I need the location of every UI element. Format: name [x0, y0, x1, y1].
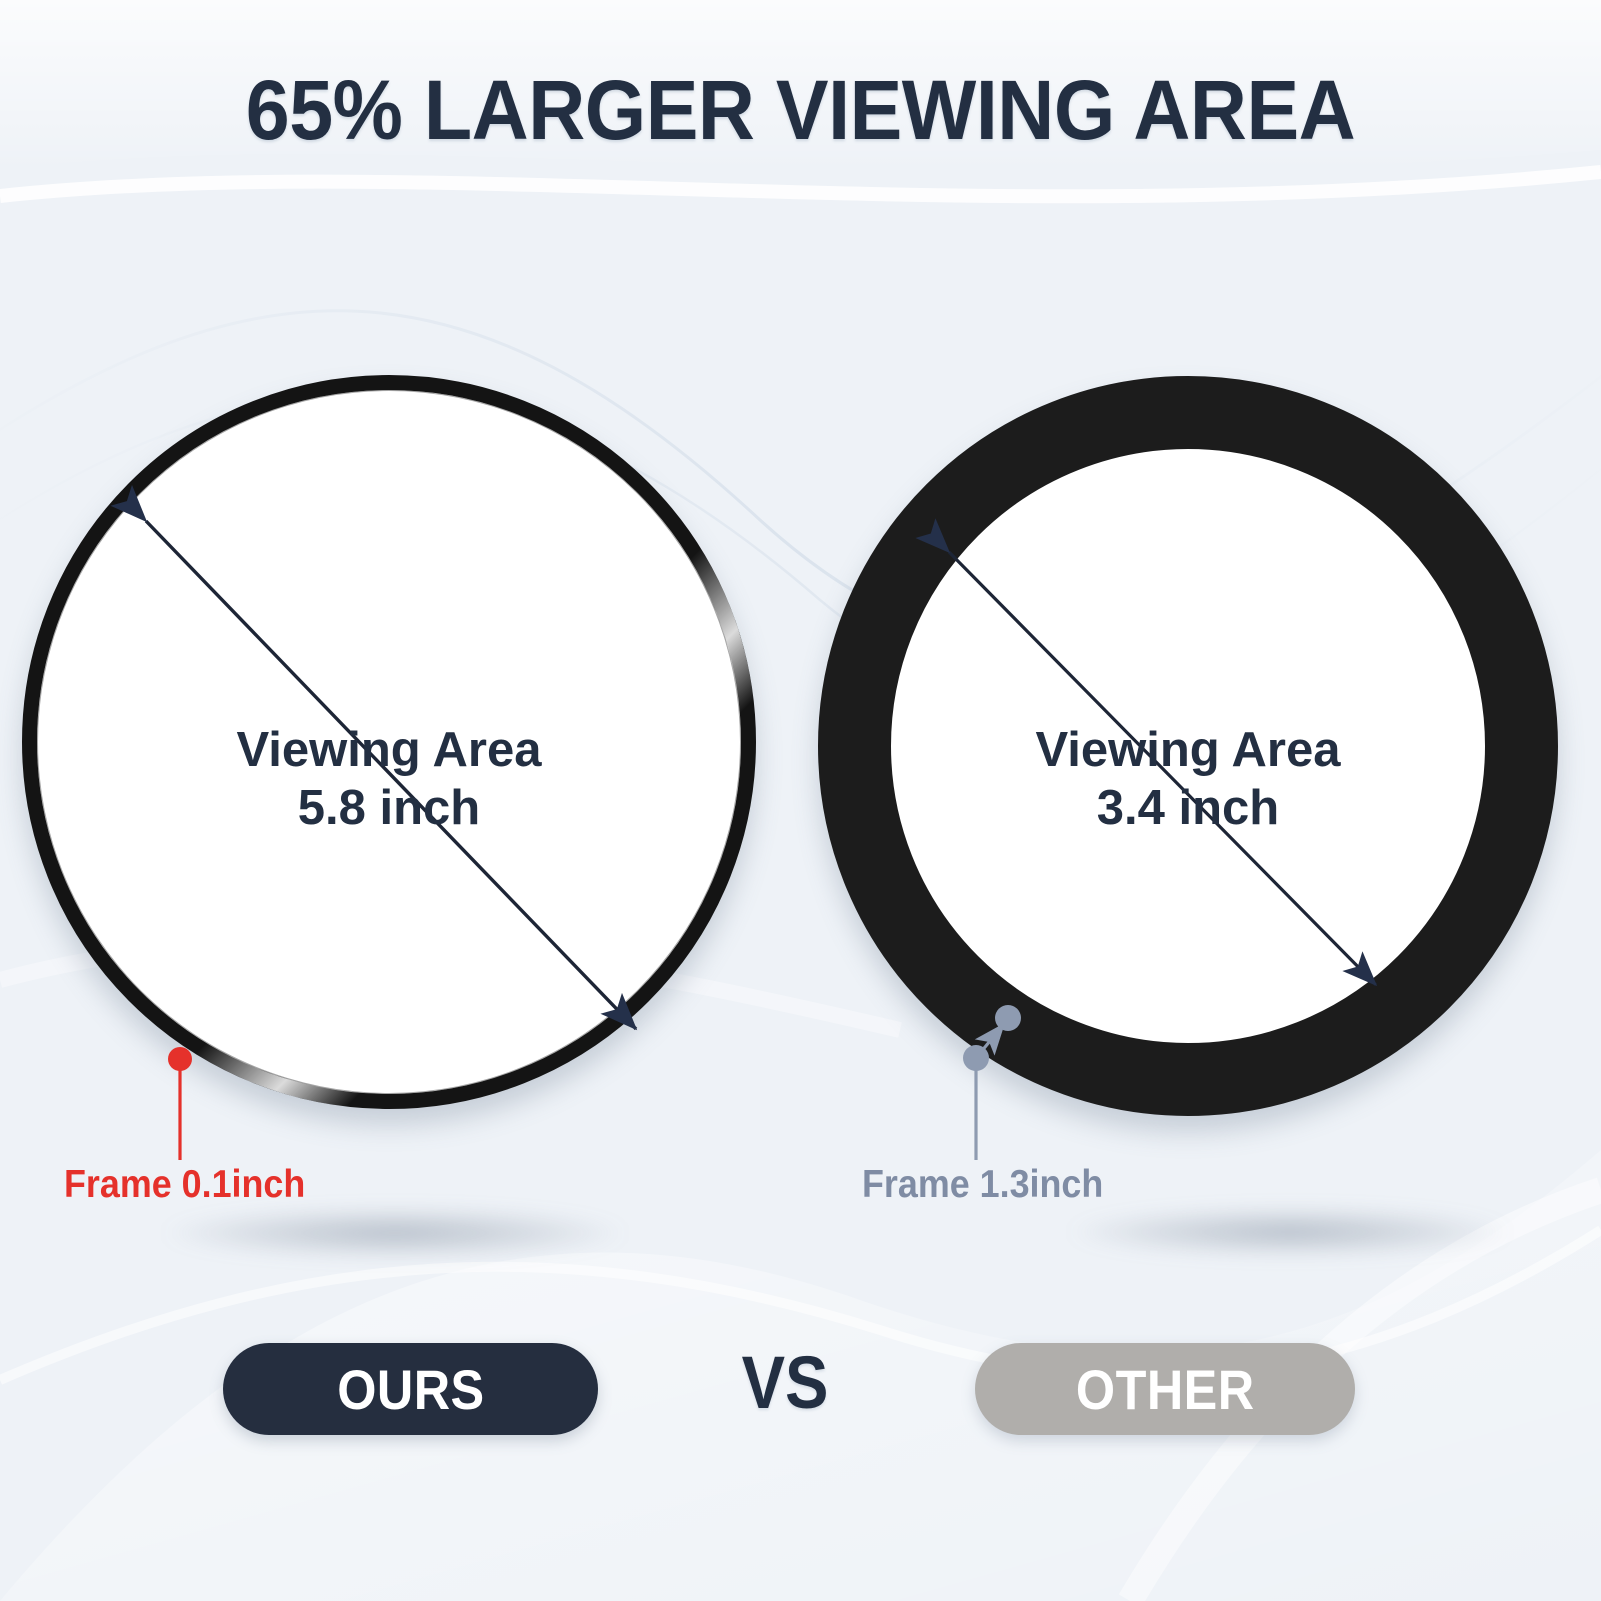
page-title: 65% LARGER VIEWING AREA — [48, 62, 1553, 159]
ours-frame-label: Frame 0.1inch — [64, 1163, 305, 1207]
ours-viewing-area-value: 5.8 inch — [139, 780, 639, 838]
vs-separator: VS — [710, 1340, 860, 1425]
ours-circle-shadow — [70, 1198, 720, 1268]
ours-viewing-area-label: Viewing Area 5.8 inch — [139, 722, 639, 838]
other-viewing-area-value: 3.4 inch — [938, 780, 1438, 838]
other-viewing-area-title: Viewing Area — [938, 722, 1438, 780]
other-badge[interactable]: OTHER — [975, 1343, 1355, 1435]
ours-badge[interactable]: OURS — [223, 1343, 598, 1435]
infographic-canvas: 65% LARGER VIEWING AREA — [0, 0, 1601, 1601]
other-frame-label: Frame 1.3inch — [862, 1163, 1103, 1207]
other-badge-label: OTHER — [1076, 1357, 1255, 1422]
other-circle-shadow — [980, 1198, 1600, 1266]
ours-badge-label: OURS — [337, 1357, 484, 1422]
ours-viewing-area-title: Viewing Area — [139, 722, 639, 780]
other-viewing-area-label: Viewing Area 3.4 inch — [938, 722, 1438, 838]
